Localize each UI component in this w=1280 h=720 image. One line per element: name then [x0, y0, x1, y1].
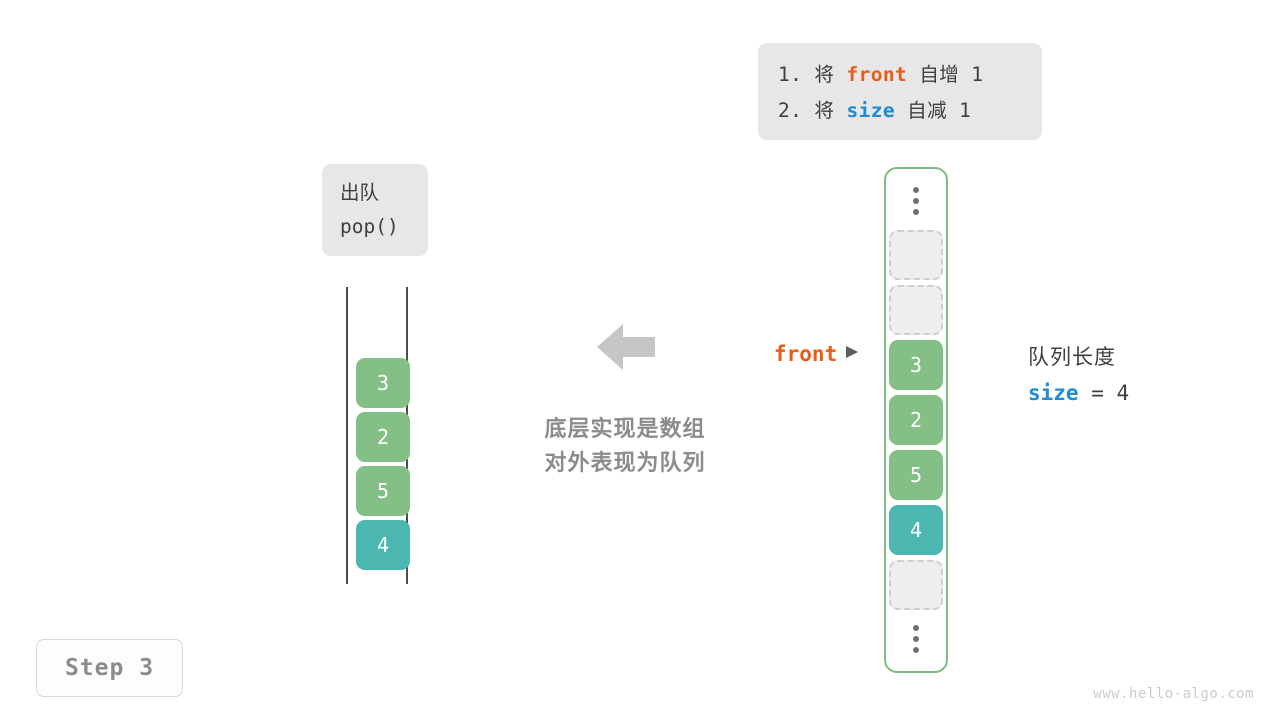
middle-caption-line-1: 底层实现是数组 — [505, 412, 745, 446]
ellipsis-top-icon — [913, 181, 919, 221]
instruction-1-value: 1 — [971, 63, 983, 86]
size-annotation-expression: size = 4 — [1028, 376, 1129, 410]
array-cell-empty — [889, 560, 943, 610]
middle-caption-line-2: 对外表现为队列 — [505, 446, 745, 480]
ellipsis-bottom-icon — [913, 619, 919, 659]
instruction-2-index: 2. — [778, 99, 802, 122]
operation-label-box: 出队 pop() — [322, 164, 428, 256]
instruction-2-prefix: 将 — [814, 99, 834, 122]
array-cell: 4 — [889, 505, 943, 555]
array-cell: 3 — [889, 340, 943, 390]
front-pointer: front — [774, 342, 859, 366]
array-cell: 3 — [356, 358, 410, 408]
instruction-box: 1. 将 front 自增 1 2. 将 size 自减 1 — [758, 43, 1042, 140]
triangle-right-icon — [845, 345, 859, 364]
operation-method: pop() — [340, 210, 428, 244]
left-queue-cells: 3254 — [356, 358, 410, 570]
size-annotation: 队列长度 size = 4 — [1028, 342, 1129, 410]
right-array-view: 3254 — [884, 167, 948, 673]
front-pointer-label: front — [774, 342, 837, 366]
array-cell: 5 — [889, 450, 943, 500]
size-value: 4 — [1117, 381, 1130, 405]
array-cell-empty — [889, 230, 943, 280]
instruction-line-2: 2. 将 size 自减 1 — [778, 93, 1022, 129]
step-badge: Step 3 — [36, 639, 183, 697]
size-annotation-title: 队列长度 — [1028, 342, 1129, 374]
queue-rail-left — [346, 287, 348, 584]
left-queue-view: 3254 — [340, 283, 420, 588]
instruction-2-keyword: size — [846, 99, 895, 122]
instruction-1-suffix: 自增 — [919, 63, 959, 86]
operation-title: 出队 — [340, 176, 428, 210]
array-cell: 4 — [356, 520, 410, 570]
instruction-2-value: 1 — [959, 99, 971, 122]
size-variable-name: size — [1028, 381, 1079, 405]
array-cell-empty — [889, 285, 943, 335]
right-array-cells: 3254 — [889, 230, 943, 610]
watermark: www.hello-algo.com — [1093, 686, 1254, 702]
instruction-2-suffix: 自减 — [907, 99, 947, 122]
instruction-1-prefix: 将 — [814, 63, 834, 86]
flow-arrow-left-icon — [597, 322, 655, 372]
instruction-line-1: 1. 将 front 自增 1 — [778, 57, 1022, 93]
array-cell: 2 — [356, 412, 410, 462]
array-cell: 5 — [356, 466, 410, 516]
watermark-text: www.hello-algo.com — [1093, 686, 1254, 702]
instruction-1-keyword: front — [846, 63, 907, 86]
size-equals-sign: = — [1091, 381, 1104, 405]
step-badge-label: Step 3 — [65, 655, 154, 681]
array-cell: 2 — [889, 395, 943, 445]
middle-caption: 底层实现是数组 对外表现为队列 — [505, 412, 745, 480]
instruction-1-index: 1. — [778, 63, 802, 86]
